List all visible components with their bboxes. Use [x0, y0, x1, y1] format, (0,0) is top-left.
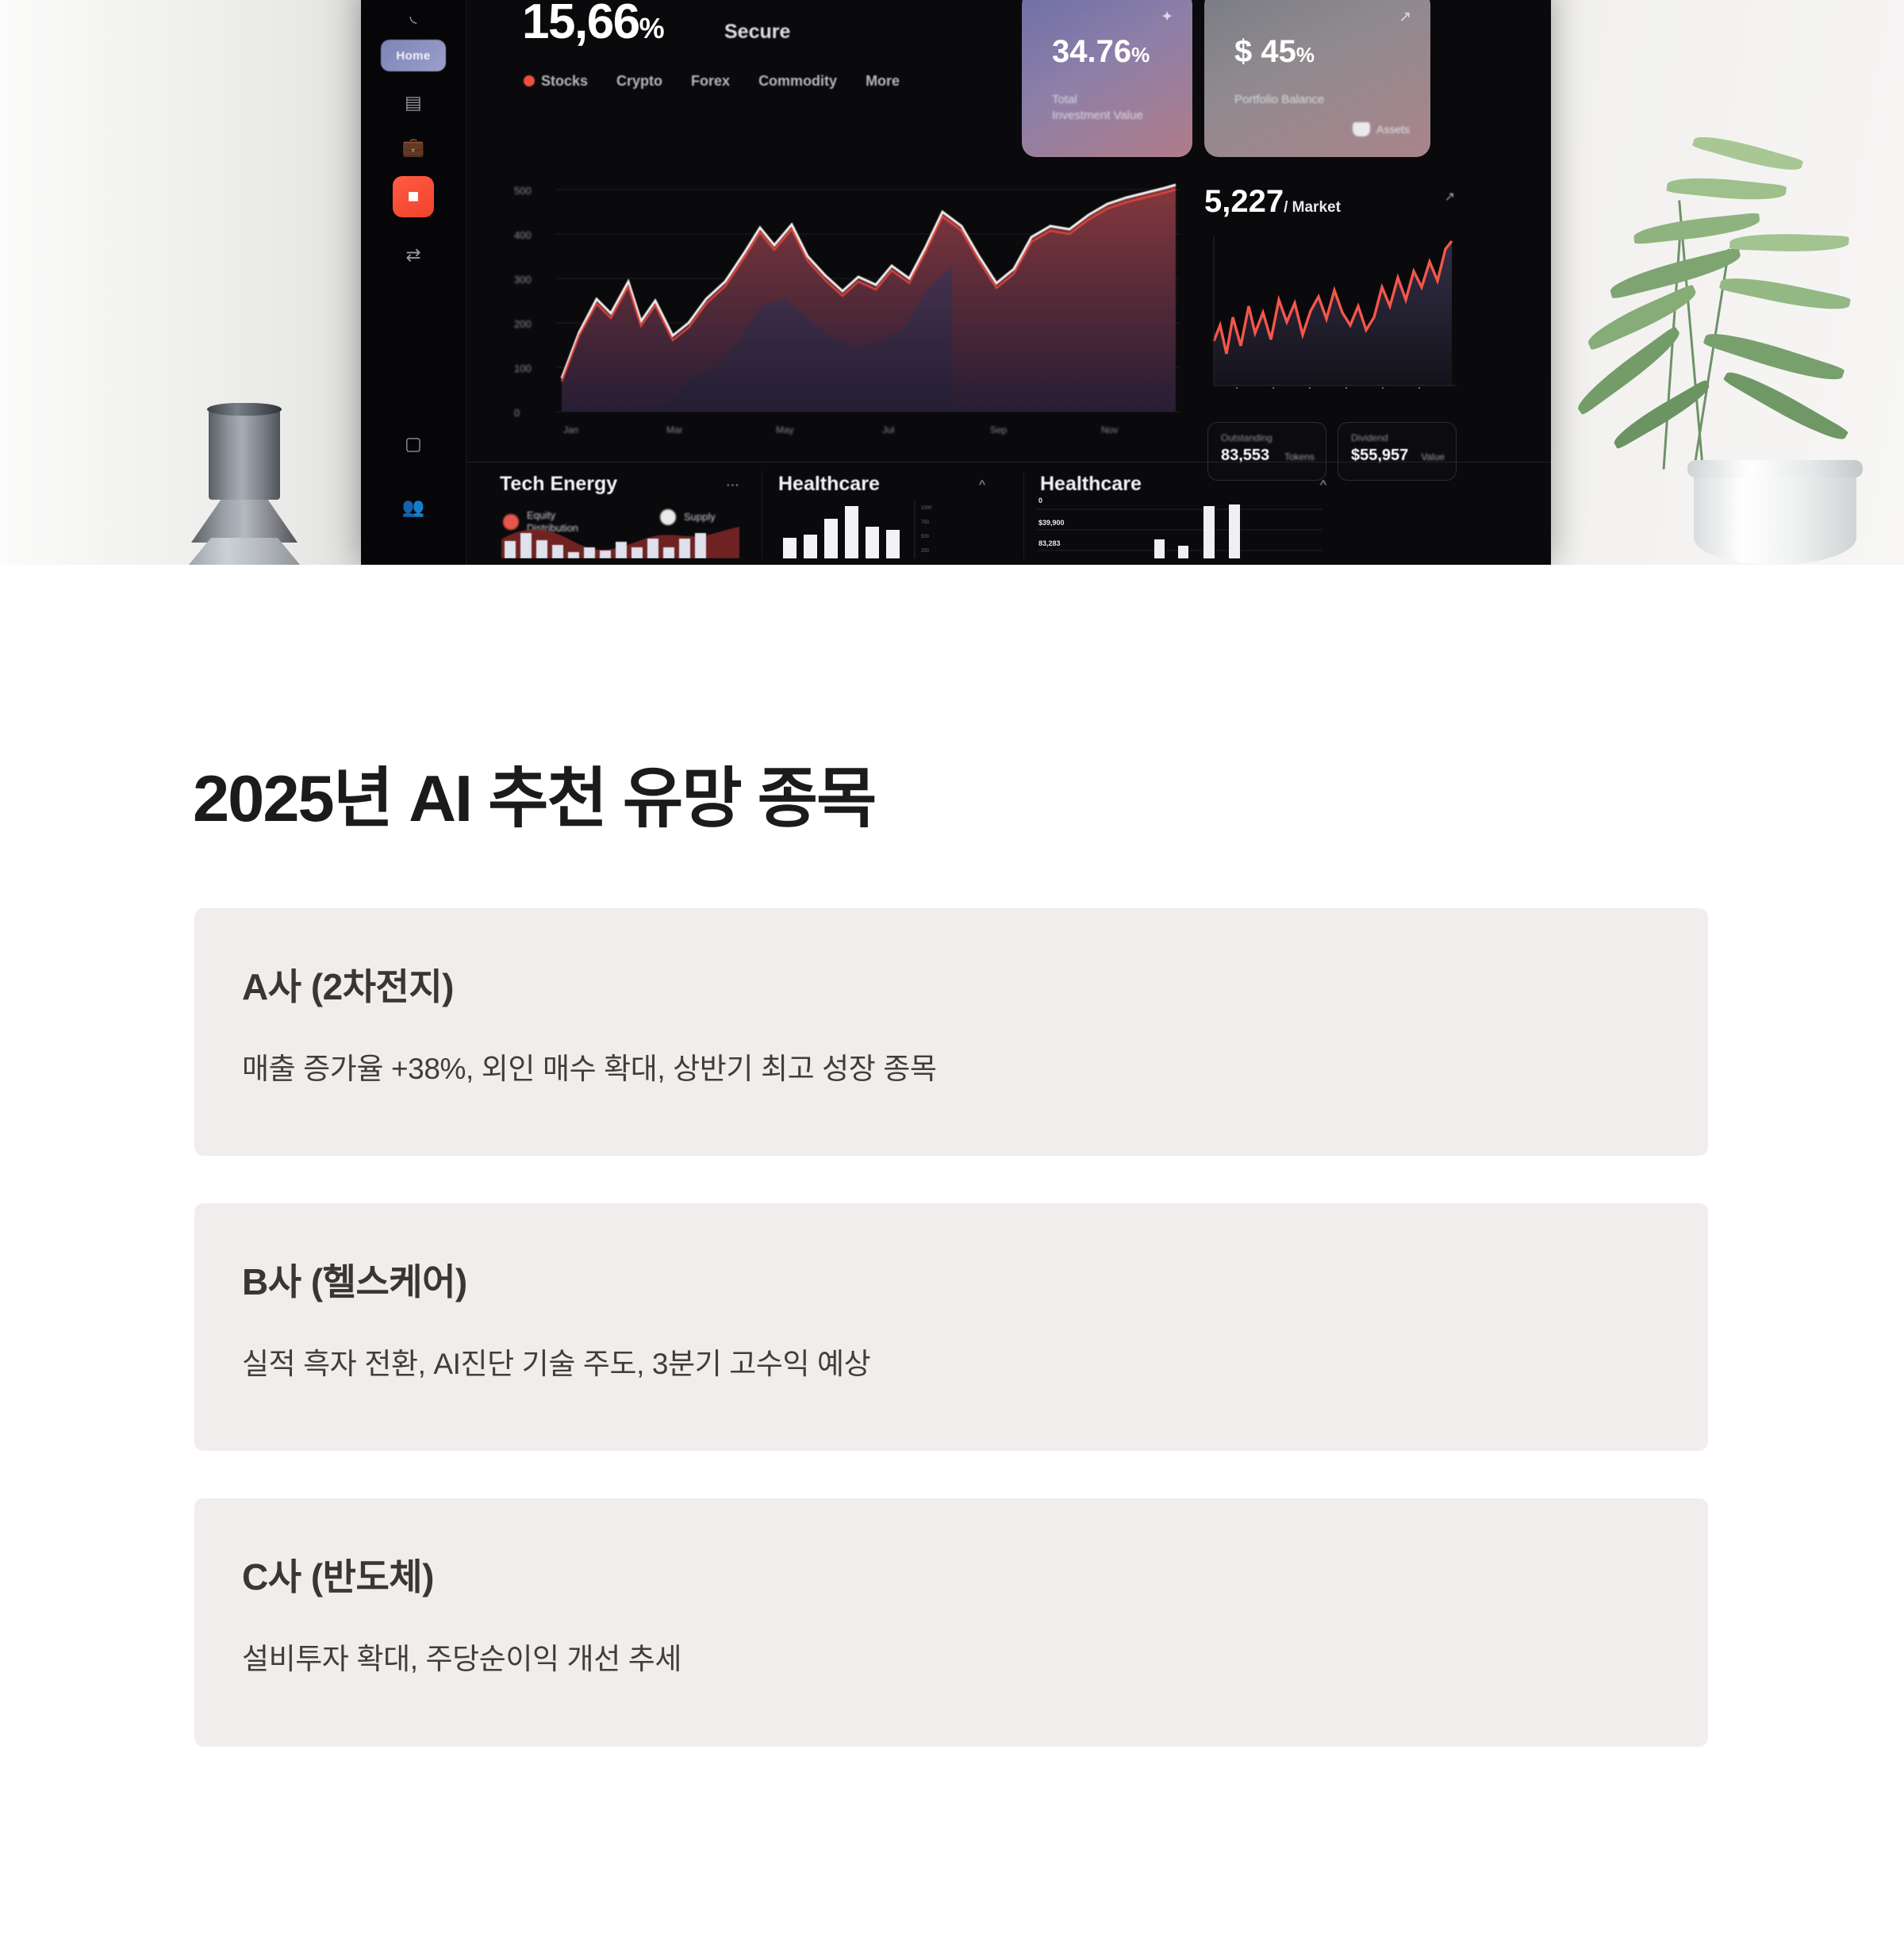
page-title: 2025년 AI 추천 유망 종목: [193, 745, 875, 840]
outstanding-label: Outstanding: [1221, 432, 1273, 443]
outstanding-unit: Tokens: [1284, 451, 1315, 462]
sidebar-item-label: Home: [396, 49, 430, 63]
chevron-up-icon[interactable]: ^: [979, 478, 985, 493]
dashboard-tabs[interactable]: Stocks Crypto Forex Commodity More: [524, 73, 900, 90]
market-rail: ↗ 5,227/ Market: [1204, 184, 1466, 220]
chart-bar-icon[interactable]: ▤: [397, 89, 429, 116]
stock-card-heading: C사 (반도체): [242, 1548, 434, 1601]
analytics-icon[interactable]: ◟: [397, 2, 429, 29]
headline-unit: %: [639, 12, 664, 44]
stock-card-body: 설비투자 확대, 주당순이익 개선 추세: [242, 1635, 681, 1678]
dividend-stat: Dividend $55,957 Value: [1338, 422, 1457, 481]
headline-value: 15,66%: [522, 0, 663, 50]
assets-action[interactable]: Assets: [1353, 122, 1410, 136]
headline-label: Secure: [724, 21, 790, 44]
chevron-up-icon[interactable]: ^: [1320, 478, 1326, 493]
stock-card-heading: A사 (2차전지): [242, 958, 454, 1011]
wallet-icon[interactable]: ■: [393, 176, 434, 217]
dividend-unit: Value: [1421, 451, 1445, 462]
legend-swatch-supply: [660, 509, 676, 525]
stock-card-c[interactable]: C사 (반도체) 설비투자 확대, 주당순이익 개선 추세: [194, 1498, 1708, 1747]
growth-tile[interactable]: ✦ 34.76% TotalInvestment Value: [1022, 0, 1192, 157]
svg-text:750: 750: [921, 520, 930, 525]
dashboard-sidebar[interactable]: ◟ Home ▤ 💼 ■ ⇄ ▢ 👥: [361, 0, 466, 565]
main-area-chart: 500 400 300 200 100 0: [514, 180, 1180, 442]
market-sparkline: [1209, 230, 1463, 389]
panel-tech-energy: Tech Energy ⋯ EquityDistribution Supply: [484, 471, 754, 558]
tab-stocks[interactable]: Stocks: [524, 73, 588, 90]
growth-tile-sub: TotalInvestment Value: [1052, 92, 1143, 125]
desk-vase: [185, 406, 304, 565]
area-chart-yaxis: 500 400 300 200 100 0: [514, 180, 551, 442]
more-icon[interactable]: ⋯: [726, 478, 739, 493]
panel-title: Tech Energy: [500, 473, 617, 496]
panel-title: Healthcare: [1040, 473, 1142, 496]
stock-card-body: 실적 흑자 전환, AI진단 기술 주도, 3분기 고수익 예상: [242, 1340, 870, 1383]
tab-commodity[interactable]: Commodity: [758, 73, 837, 90]
svg-text:$39,900: $39,900: [1038, 519, 1065, 527]
stock-card-a[interactable]: A사 (2차전지) 매출 증가율 +38%, 외인 매수 확대, 상반기 최고 …: [194, 908, 1708, 1156]
tab-forex[interactable]: Forex: [691, 73, 730, 90]
trend-icon: ↗: [1399, 8, 1411, 26]
exchange-icon[interactable]: ⇄: [397, 241, 429, 268]
tab-more[interactable]: More: [866, 73, 900, 90]
balance-tile[interactable]: ↗ $ 45% Portfolio Balance Assets: [1204, 0, 1430, 157]
document-icon[interactable]: ▢: [397, 430, 429, 457]
balance-tile-sub: Portfolio Balance: [1234, 92, 1324, 108]
panel-title: Healthcare: [778, 473, 880, 496]
briefcase-icon[interactable]: 💼: [397, 133, 429, 160]
legend-supply: Supply: [660, 509, 716, 525]
tab-crypto[interactable]: Crypto: [616, 73, 662, 90]
growth-tile-value: 34.76%: [1052, 34, 1150, 70]
panel-healthcare-values: Healthcare ^ 0$39,90083,283: [1023, 471, 1341, 558]
panel-divider: [466, 462, 1551, 462]
plant-pot: [1694, 460, 1856, 565]
svg-text:0: 0: [1038, 497, 1042, 504]
svg-text:83,283: 83,283: [1038, 539, 1061, 547]
area-chart-xaxis: Jan Mar May Jul Sep Nov: [555, 424, 1180, 442]
hero-photo: ◟ Home ▤ 💼 ■ ⇄ ▢ 👥 15,66% Secure Stocks: [0, 0, 1904, 565]
svg-text:1000: 1000: [921, 506, 932, 511]
dashboard-screen: ◟ Home ▤ 💼 ■ ⇄ ▢ 👥 15,66% Secure Stocks: [361, 0, 1551, 565]
svg-text:250: 250: [921, 549, 930, 554]
sparkle-icon: ✦: [1161, 8, 1173, 26]
monitor: ◟ Home ▤ 💼 ■ ⇄ ▢ 👥 15,66% Secure Stocks: [361, 0, 1551, 565]
dividend-label: Dividend: [1351, 432, 1388, 443]
market-value: 5,227/ Market: [1204, 184, 1466, 220]
users-icon[interactable]: 👥: [397, 493, 429, 520]
svg-text:500: 500: [921, 535, 930, 539]
area-chart-plot: [555, 180, 1180, 421]
potted-plant: [1491, 0, 1904, 565]
stock-card-heading: B사 (헬스케어): [242, 1253, 467, 1306]
panel-healthcare-bars: Healthcare ^ 1000750 500250: [762, 471, 1000, 558]
stock-card-b[interactable]: B사 (헬스케어) 실적 흑자 전환, AI진단 기술 주도, 3분기 고수익 …: [194, 1203, 1708, 1451]
stock-card-body: 매출 증가율 +38%, 외인 매수 확대, 상반기 최고 성장 종목: [242, 1045, 937, 1087]
sidebar-item-home[interactable]: Home: [381, 40, 446, 71]
balance-tile-value: $ 45%: [1234, 34, 1315, 70]
assets-icon: [1353, 122, 1370, 136]
